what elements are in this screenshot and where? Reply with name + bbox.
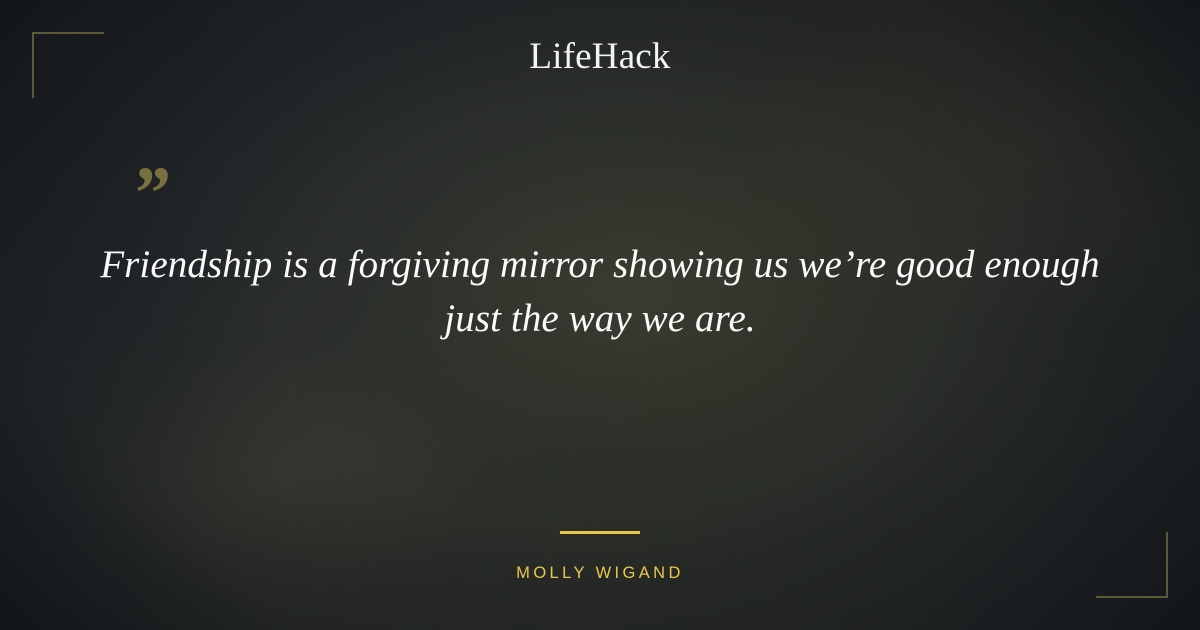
quote-card: LifeHack ” Friendship is a forgiving mir… [0,0,1200,630]
quotation-mark-icon: ” [131,156,167,232]
brand-logo: LifeHack [0,38,1200,75]
quote-author: MOLLY WIGAND [0,564,1200,584]
quote-line-1: Friendship is a forgiving mirror showing… [100,243,974,286]
gold-divider [560,531,640,534]
quote-text: Friendship is a forgiving mirror showing… [100,238,1100,346]
